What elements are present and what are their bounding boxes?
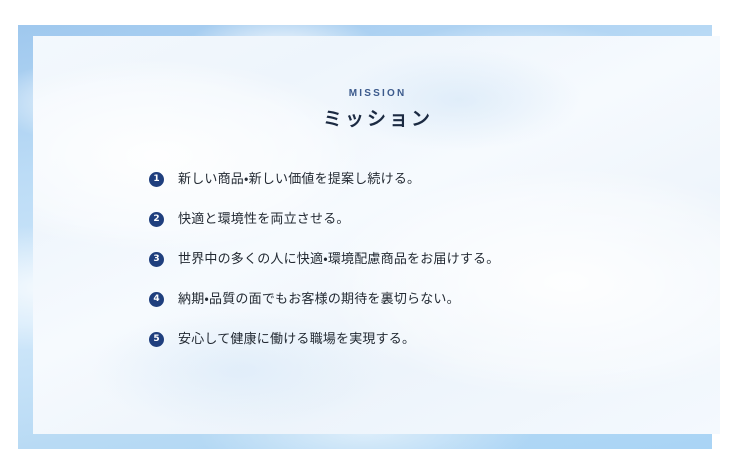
mission-number-badge: 4 xyxy=(149,292,164,307)
mission-number-badge: 5 xyxy=(149,332,164,347)
page-title: ミッション xyxy=(33,109,720,132)
list-item: 2快適と環境性を両立させる。 xyxy=(149,209,669,229)
list-item: 4納期・品質の面でもお客様の期待を裏切らない。 xyxy=(149,289,669,309)
mission-heading-block: MISSION ミッション xyxy=(33,89,720,132)
mission-number-badge: 1 xyxy=(149,172,164,187)
mission-number-badge: 3 xyxy=(149,252,164,267)
mission-list: 1新しい商品・新しい価値を提案し続ける。2快適と環境性を両立させる。3世界中の多… xyxy=(149,169,669,349)
mission-number-badge: 2 xyxy=(149,212,164,227)
mission-item-text: 快適と環境性を両立させる。 xyxy=(178,209,350,229)
mission-item-text: 納期・品質の面でもお客様の期待を裏切らない。 xyxy=(178,289,460,309)
list-item: 3世界中の多くの人に快適・環境配慮商品をお届けする。 xyxy=(149,249,669,269)
page-stage: MISSION ミッション 1新しい商品・新しい価値を提案し続ける。2快適と環境… xyxy=(0,0,730,474)
section-eyebrow-label: MISSION xyxy=(33,89,720,99)
mission-panel: MISSION ミッション 1新しい商品・新しい価値を提案し続ける。2快適と環境… xyxy=(33,36,720,434)
list-item: 5安心して健康に働ける職場を実現する。 xyxy=(149,329,669,349)
mission-item-text: 新しい商品・新しい価値を提案し続ける。 xyxy=(178,169,420,189)
mission-panel-inner: MISSION ミッション 1新しい商品・新しい価値を提案し続ける。2快適と環境… xyxy=(33,36,720,434)
list-item: 1新しい商品・新しい価値を提案し続ける。 xyxy=(149,169,669,189)
mission-item-text: 世界中の多くの人に快適・環境配慮商品をお届けする。 xyxy=(178,249,499,269)
mission-item-text: 安心して健康に働ける職場を実現する。 xyxy=(178,329,415,349)
